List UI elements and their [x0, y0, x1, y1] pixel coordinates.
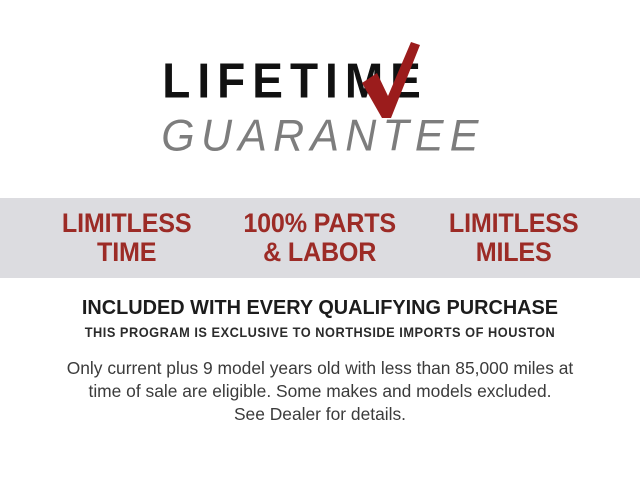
feature-band: LIMITLESS TIME 100% PARTS & LABOR LIMITL…: [0, 198, 640, 278]
fineprint-line: See Dealer for details.: [28, 403, 612, 426]
fineprint-line: Only current plus 9 model years old with…: [28, 357, 612, 380]
feature-line-1: LIMITLESS: [62, 208, 191, 238]
subheadline: THIS PROGRAM IS EXCLUSIVE TO NORTHSIDE I…: [19, 325, 621, 340]
body-block: INCLUDED WITH EVERY QUALIFYING PURCHASE …: [0, 278, 640, 480]
lifetime-guarantee-promo-card: LIFETIME GUARANTEE LIMITLESS TIME 100% P…: [0, 0, 640, 480]
logo-lockup: LIFETIME GUARANTEE: [155, 59, 484, 157]
fineprint-line: time of sale are eligible. Some makes an…: [28, 380, 612, 403]
fineprint-block: Only current plus 9 model years old with…: [0, 357, 640, 426]
feature-line-1: 100% PARTS: [244, 208, 397, 238]
feature-line-2: MILES: [423, 238, 603, 267]
logo-word-lifetime: LIFETIME: [155, 56, 484, 105]
feature-line-1: LIMITLESS: [449, 208, 578, 238]
feature-column-parts-labor: 100% PARTS & LABOR: [230, 209, 410, 267]
logo-word-guarantee: GUARANTEE: [155, 114, 484, 159]
feature-line-2: TIME: [37, 238, 217, 267]
feature-line-2: & LABOR: [230, 238, 410, 267]
feature-column-limitless-miles: LIMITLESS MILES: [423, 209, 603, 267]
logo-block: LIFETIME GUARANTEE: [0, 0, 640, 198]
headline: INCLUDED WITH EVERY QUALIFYING PURCHASE: [10, 297, 631, 320]
feature-column-limitless-time: LIMITLESS TIME: [37, 209, 217, 267]
